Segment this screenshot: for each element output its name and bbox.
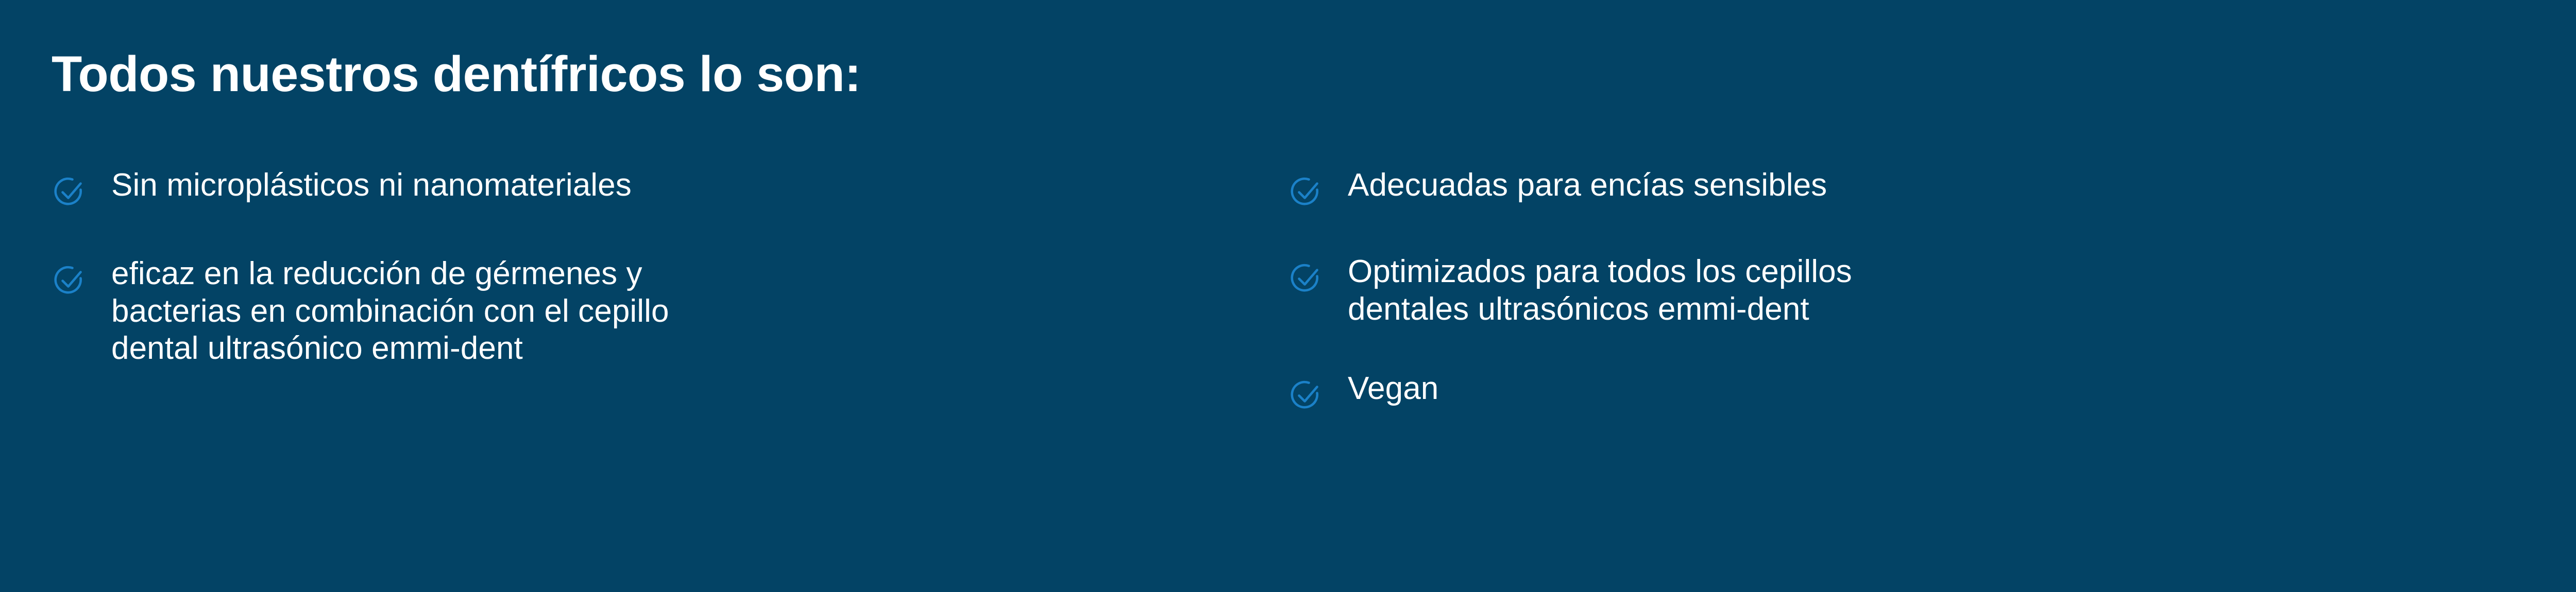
feature-item-optimizados-cepillos: Optimizados para todos los cepillos dent…	[1288, 241, 2473, 328]
check-circle-icon	[1288, 260, 1325, 298]
feature-item-label: Optimizados para todos los cepillos dent…	[1348, 241, 1852, 328]
feature-line: Vegan	[1348, 370, 1438, 408]
feature-line: Adecuadas para encías sensibles	[1348, 167, 1827, 204]
feature-item-encias-sensibles: Adecuadas para encías sensibles	[1288, 154, 2473, 211]
feature-line: dentales ultrasónicos emmi-dent	[1348, 291, 1852, 328]
feature-columns: Sin microplásticos ni nanomateriales efi…	[0, 154, 2576, 414]
feature-line: bacterias en combinación con el cepillo	[111, 293, 669, 330]
feature-item-sin-microplasticos: Sin microplásticos ni nanomateriales	[52, 154, 1236, 211]
feature-item-label: eficaz en la reducción de gérmenes y bac…	[111, 243, 669, 368]
page-title: Todos nuestros dentífricos lo son:	[52, 49, 861, 99]
check-circle-icon	[52, 174, 89, 211]
feature-line: dental ultrasónico emmi-dent	[111, 330, 669, 368]
check-circle-icon	[1288, 377, 1325, 414]
feature-item-label: Adecuadas para encías sensibles	[1348, 154, 1827, 204]
feature-line: Sin microplásticos ni nanomateriales	[111, 167, 632, 204]
check-circle-icon	[1288, 174, 1325, 211]
feature-item-label: Vegan	[1348, 358, 1438, 408]
feature-item-label: Sin microplásticos ni nanomateriales	[111, 154, 632, 204]
features-panel: Todos nuestros dentífricos lo son: Sin m…	[0, 0, 2576, 592]
check-circle-icon	[52, 263, 89, 300]
feature-item-vegan: Vegan	[1288, 358, 2473, 414]
feature-column-right: Adecuadas para encías sensibles Optimiza…	[1236, 154, 2473, 414]
feature-item-eficaz-reduccion-germenes: eficaz en la reducción de gérmenes y bac…	[52, 243, 1236, 368]
feature-line: eficaz en la reducción de gérmenes y	[111, 255, 669, 293]
feature-line: Optimizados para todos los cepillos	[1348, 253, 1852, 291]
feature-column-left: Sin microplásticos ni nanomateriales efi…	[0, 154, 1236, 368]
